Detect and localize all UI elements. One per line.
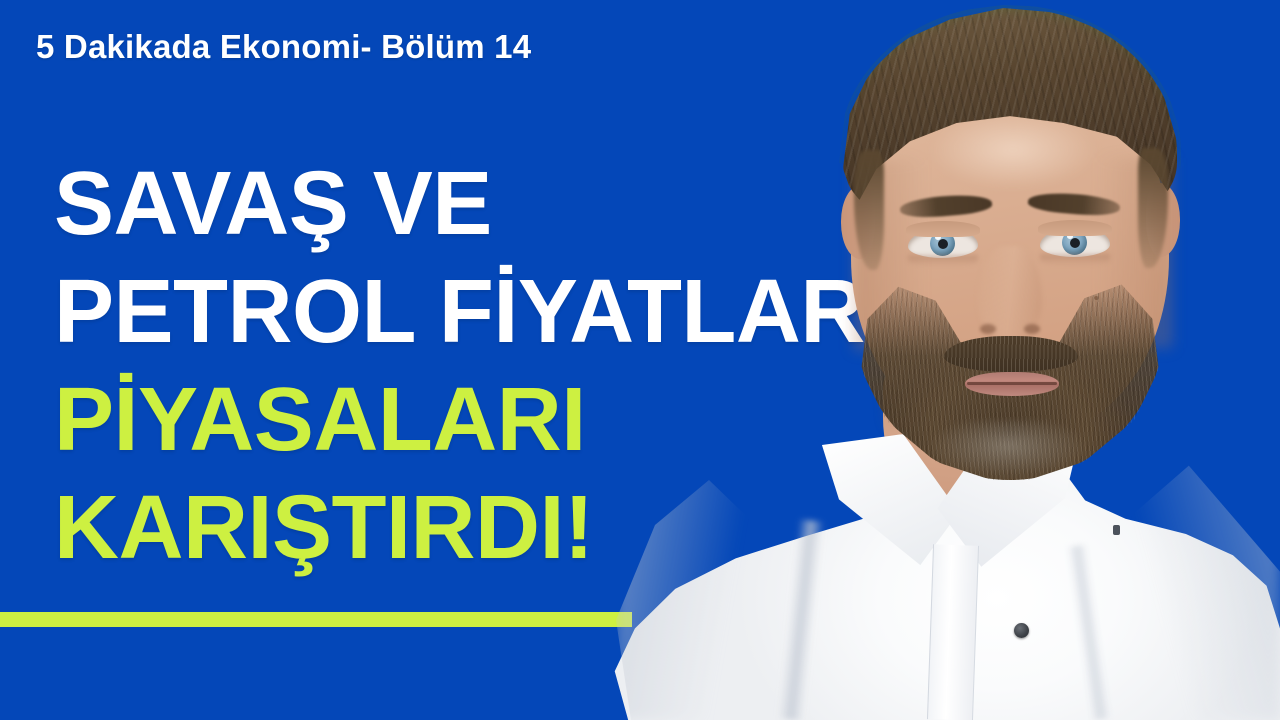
shirt-button [1014, 623, 1029, 638]
shirt-shadow-left [616, 470, 766, 720]
pupil [1070, 238, 1080, 248]
nostril-right [1024, 324, 1040, 334]
shirt-shadow-right [1128, 455, 1280, 720]
eye-left [908, 228, 978, 258]
collar-detail [1113, 525, 1120, 535]
lip-line [967, 382, 1057, 385]
episode-label: 5 Dakikada Ekonomi- Bölüm 14 [36, 28, 531, 66]
shirt-placket [927, 544, 979, 720]
eyelid [906, 221, 980, 237]
presenter-portrait [608, 0, 1280, 720]
video-thumbnail: 5 Dakikada Ekonomi- Bölüm 14 SAVAŞ VE PE… [0, 0, 1280, 720]
eye-right [1040, 227, 1110, 257]
pupil [938, 239, 948, 249]
accent-bar [0, 612, 632, 627]
under-eye-shadow [908, 255, 978, 267]
beard-grey-patch [928, 420, 1088, 478]
eyelid [1038, 220, 1112, 236]
moustache-texture [944, 336, 1078, 372]
under-eye-shadow [1040, 254, 1110, 266]
nostril-left [980, 324, 996, 334]
